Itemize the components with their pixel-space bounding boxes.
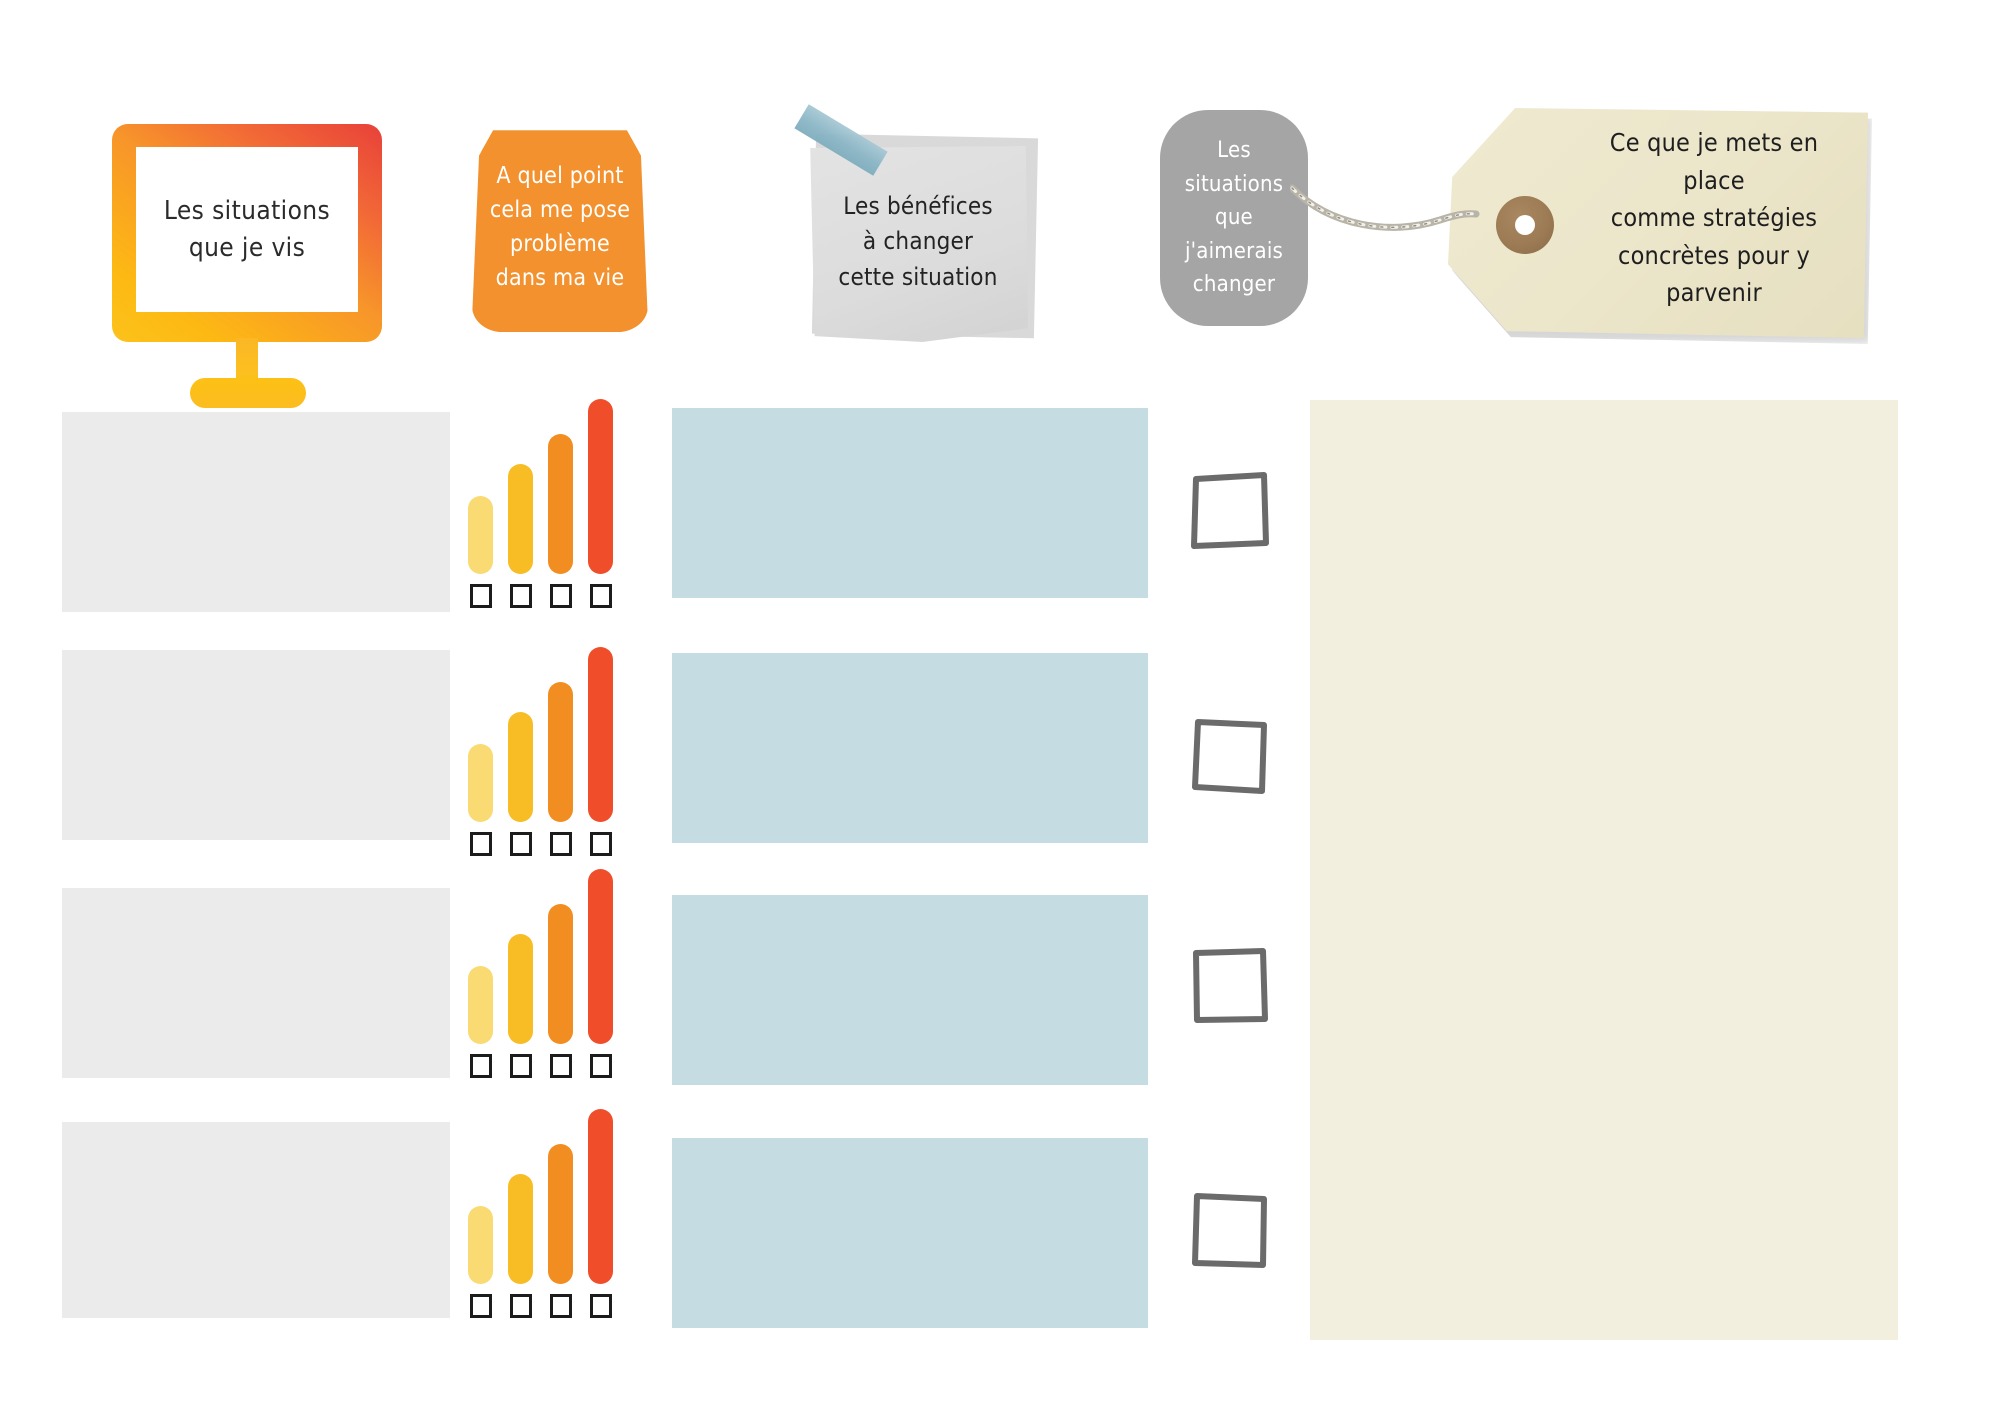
twisted-string-icon xyxy=(1290,180,1480,250)
header-strategies-label: Ce que je mets en place comme stratégies… xyxy=(1576,108,1852,328)
situation-input-row-1[interactable] xyxy=(62,412,450,612)
rating-scale-row-2[interactable] xyxy=(468,676,623,856)
column-header-problem-level: A quel point cela me pose problème dans … xyxy=(472,122,648,332)
header-situations-label: Les situations que je vis xyxy=(164,193,330,267)
rating-bar-4[interactable] xyxy=(588,647,613,822)
header-strategies-line2: comme stratégies xyxy=(1576,199,1852,237)
rating-bar-1[interactable] xyxy=(468,496,493,574)
rating-scale-row-3[interactable] xyxy=(468,898,623,1078)
rating-checkbox-2[interactable] xyxy=(510,1294,532,1318)
strategies-input-panel[interactable] xyxy=(1310,400,1898,1340)
rating-bar-3[interactable] xyxy=(548,682,573,822)
rating-checkbox-1[interactable] xyxy=(470,832,492,856)
rating-checkbox-2[interactable] xyxy=(510,1054,532,1078)
rating-bar-2[interactable] xyxy=(508,934,533,1044)
column-header-situations: Les situations que je vis xyxy=(112,124,382,354)
header-problem-line4: dans ma vie xyxy=(490,261,630,295)
monitor-base-icon xyxy=(190,378,306,408)
column-header-want-to-change: Les situations que j'aimerais changer xyxy=(1160,110,1308,326)
rating-checkbox-3[interactable] xyxy=(550,584,572,608)
rating-bar-1[interactable] xyxy=(468,1206,493,1284)
change-checkbox-row-4[interactable] xyxy=(1190,1190,1270,1270)
rating-checkbox-2[interactable] xyxy=(510,584,532,608)
situation-input-row-2[interactable] xyxy=(62,650,450,840)
change-checkbox-row-3[interactable] xyxy=(1190,945,1270,1025)
rating-scale-row-4[interactable] xyxy=(468,1138,623,1318)
rating-checkbox-4[interactable] xyxy=(590,1054,612,1078)
header-problem-line3: problème xyxy=(490,227,630,261)
header-want-change-line4: j'aimerais xyxy=(1185,235,1283,268)
header-benefits-line2: à changer xyxy=(838,224,997,259)
benefit-input-row-1[interactable] xyxy=(672,408,1148,598)
header-situations-line1: Les situations xyxy=(164,193,330,230)
change-checkbox-row-2[interactable] xyxy=(1190,715,1270,795)
header-problem-line1: A quel point xyxy=(490,159,630,193)
rating-bar-4[interactable] xyxy=(588,869,613,1044)
rating-checkbox-3[interactable] xyxy=(550,1294,572,1318)
column-header-strategies: Ce que je mets en place comme stratégies… xyxy=(1448,108,1868,338)
change-checkbox-row-1[interactable] xyxy=(1190,470,1270,550)
header-want-change-line2: situations xyxy=(1185,168,1283,201)
header-strategies-line1: Ce que je mets en place xyxy=(1576,124,1852,199)
rating-checkbox-1[interactable] xyxy=(470,1054,492,1078)
benefit-input-row-3[interactable] xyxy=(672,895,1148,1085)
monitor-screen-inner: Les situations que je vis xyxy=(136,147,358,312)
header-problem-level-label: A quel point cela me pose problème dans … xyxy=(490,159,630,295)
rating-bar-2[interactable] xyxy=(508,464,533,574)
rating-bar-2[interactable] xyxy=(508,1174,533,1284)
grommet-ring-icon xyxy=(1496,196,1554,254)
header-strategies-line3: concrètes pour y parvenir xyxy=(1576,237,1852,312)
header-situations-line2: que je vis xyxy=(164,230,330,267)
benefit-input-row-2[interactable] xyxy=(672,653,1148,843)
rating-bar-4[interactable] xyxy=(588,399,613,574)
situation-input-row-3[interactable] xyxy=(62,888,450,1078)
header-benefits-label: Les bénéfices à changer cette situation xyxy=(838,189,997,300)
rating-bar-2[interactable] xyxy=(508,712,533,822)
rating-checkbox-1[interactable] xyxy=(470,584,492,608)
header-want-change-line5: changer xyxy=(1185,268,1283,301)
rating-checkbox-4[interactable] xyxy=(590,584,612,608)
rating-bar-3[interactable] xyxy=(548,1144,573,1284)
header-want-change-label: Les situations que j'aimerais changer xyxy=(1185,134,1283,301)
header-benefits-line3: cette situation xyxy=(838,260,997,295)
column-header-benefits: Les bénéfices à changer cette situation xyxy=(808,140,1036,350)
rating-checkbox-4[interactable] xyxy=(590,832,612,856)
rating-bar-1[interactable] xyxy=(468,966,493,1044)
rating-bar-1[interactable] xyxy=(468,744,493,822)
sticky-note-icon: Les bénéfices à changer cette situation xyxy=(808,146,1028,344)
rating-checkbox-3[interactable] xyxy=(550,832,572,856)
header-want-change-line3: que xyxy=(1185,201,1283,234)
monitor-screen-icon: Les situations que je vis xyxy=(112,124,382,342)
benefit-input-row-4[interactable] xyxy=(672,1138,1148,1328)
header-problem-line2: cela me pose xyxy=(490,193,630,227)
rating-scale-row-1[interactable] xyxy=(468,428,623,608)
rating-bar-3[interactable] xyxy=(548,434,573,574)
header-want-change-line1: Les xyxy=(1185,134,1283,167)
rating-checkbox-4[interactable] xyxy=(590,1294,612,1318)
rating-checkbox-3[interactable] xyxy=(550,1054,572,1078)
situation-input-row-4[interactable] xyxy=(62,1122,450,1318)
rating-checkbox-1[interactable] xyxy=(470,1294,492,1318)
worksheet-canvas: Les situations que je vis A quel point c… xyxy=(0,0,2000,1414)
rating-bar-3[interactable] xyxy=(548,904,573,1044)
rating-checkbox-2[interactable] xyxy=(510,832,532,856)
header-benefits-line1: Les bénéfices xyxy=(838,189,997,224)
rating-bar-4[interactable] xyxy=(588,1109,613,1284)
